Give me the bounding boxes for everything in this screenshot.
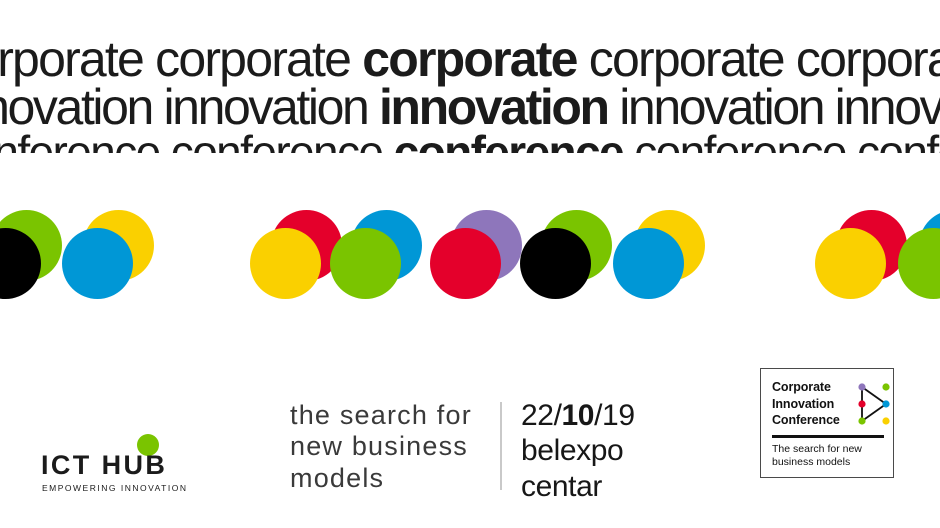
headline-word-gap	[382, 126, 393, 153]
circle-yellow-front	[815, 228, 886, 299]
event-date-year: 19	[602, 399, 635, 432]
headline-word-gap	[846, 126, 857, 153]
node-middle-left-icon	[858, 400, 865, 407]
event-tagline-line-2: new business	[290, 431, 490, 462]
circle-green-front	[330, 228, 401, 299]
conference-logo-title-line-2: Innovation	[772, 396, 840, 413]
headline-word-gap	[623, 126, 634, 153]
headline-word-conference-1: conference	[0, 126, 160, 153]
circle-pair-1	[0, 196, 62, 306]
node-bottom-right-icon	[882, 417, 889, 424]
node-bottom-left-icon	[858, 417, 865, 424]
circle-red-front	[430, 228, 501, 299]
circle-pair-9	[898, 196, 940, 306]
circle-black-front	[520, 228, 591, 299]
vertical-divider	[500, 402, 502, 490]
node-graph-edge-1	[862, 387, 886, 404]
conference-logo-title-line-3: Conference	[772, 412, 840, 429]
headline-word-conference-4: conference	[634, 126, 846, 153]
ict-hub-name: ICT HUB	[41, 452, 167, 479]
event-tagline-line-3: models	[290, 463, 490, 494]
headline-row-corporate: corporate corporate corporate corporate …	[0, 34, 940, 84]
node-middle-right-icon	[882, 400, 889, 407]
event-venue-line-2: centar	[521, 469, 701, 504]
headline-row-conference: conference conference conference confere…	[0, 129, 940, 153]
conference-logo-title: Corporate Innovation Conference	[772, 379, 840, 429]
circle-cyan-front	[613, 228, 684, 299]
circle-pair-5	[430, 196, 522, 306]
event-date: 22/10/19	[521, 398, 701, 433]
event-date-venue: 22/10/19 belexpo centar	[521, 398, 701, 504]
circle-pair-6	[520, 196, 612, 306]
headline-word-conference-2: conference	[171, 126, 383, 153]
event-tagline-line-1: the search for	[290, 400, 490, 431]
event-venue-line-1: belexpo	[521, 433, 701, 468]
circle-pair-8	[815, 196, 907, 306]
circle-yellow-front	[250, 228, 321, 299]
poster-canvas: corporate corporate corporate corporate …	[0, 0, 940, 528]
node-top-right-icon	[882, 383, 889, 390]
conference-logo-rule	[772, 435, 884, 438]
circle-green-front	[898, 228, 940, 299]
headline-word-conference-3: conference	[394, 126, 623, 153]
circle-pair-3	[250, 196, 342, 306]
circle-cyan-front	[62, 228, 133, 299]
conference-logo-box[interactable]: Corporate Innovation Conference The sear…	[760, 368, 894, 478]
event-date-sep-1: /	[554, 399, 562, 432]
conference-logo-sub-line-1: The search for new	[772, 443, 862, 456]
circle-pair-2	[62, 196, 154, 306]
headline-wordmark: corporate corporate corporate corporate …	[0, 28, 940, 153]
node-top-left-icon	[858, 383, 865, 390]
ict-hub-tagline: EMPOWERING INNOVATION	[42, 484, 187, 493]
ict-hub-logo[interactable]: ICT HUB EMPOWERING INNOVATION	[41, 434, 216, 494]
event-date-sep-2: /	[594, 399, 602, 432]
headline-word-conference-5: conference	[857, 126, 940, 153]
event-tagline: the search for new business models	[290, 400, 490, 494]
conference-logo-sub-line-2: business models	[772, 456, 862, 469]
conference-logo-title-line-1: Corporate	[772, 379, 840, 396]
node-graph-edge-2	[862, 404, 886, 421]
circle-pairs-band	[0, 196, 940, 316]
headline-row-innovation: innovation innovation innovation innovat…	[0, 82, 940, 132]
node-graph-icon	[853, 381, 893, 427]
event-date-day: 22	[521, 399, 554, 432]
node-graph-svg	[853, 381, 893, 427]
event-date-month: 10	[562, 399, 595, 432]
circle-pair-7	[613, 196, 705, 306]
conference-logo-subtitle: The search for new business models	[772, 443, 862, 470]
headline-word-gap	[160, 126, 171, 153]
circle-pair-4	[330, 196, 422, 306]
